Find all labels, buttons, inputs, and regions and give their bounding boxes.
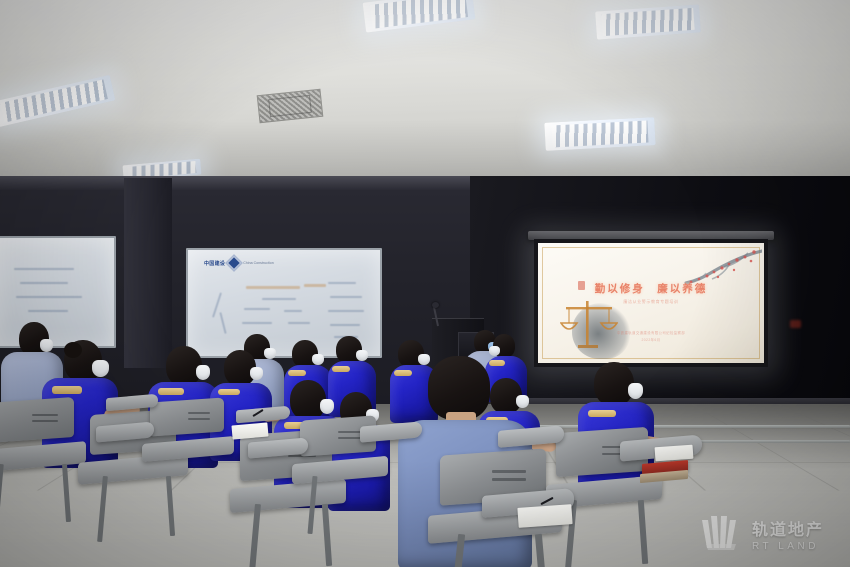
watermark-text: 轨道地产 RT LAND: [752, 516, 824, 552]
whiteboard-logo-subtext: China Construction: [243, 261, 274, 265]
wall-red-marking: [790, 320, 801, 328]
notebook-paper: [655, 445, 694, 462]
whiteboard-left: [0, 236, 116, 348]
rt-land-logo-icon: [698, 514, 744, 554]
whiteboard-company-logo: 中国建设 China Construction: [204, 257, 274, 269]
microphone-icon: [432, 302, 439, 308]
rt-land-watermark: 轨道地产 RT LAND: [698, 506, 844, 562]
whiteboard-logo-text: 中国建设: [204, 260, 225, 267]
slide-footer-line-2: 2022年6月: [538, 337, 764, 343]
slide-footer: 中铁建轨道交通建设有限公司纪检监察部 2022年6月: [538, 330, 764, 343]
watermark-english: RT LAND: [752, 541, 819, 552]
notebook-paper: [517, 504, 572, 528]
diamond-logo-icon: [226, 255, 243, 272]
projected-slide: 勤以修身 廉以养德 廉洁从业警示教育专题培训 中铁建轨道交通建设有限公司纪检监察…: [538, 243, 764, 363]
watermark-chinese: 轨道地产: [752, 516, 824, 540]
photo-canvas: 中国建设 China Construction: [0, 0, 850, 567]
projection-screen: 勤以修身 廉以养德 廉洁从业警示教育专题培训 中铁建轨道交通建设有限公司纪检监察…: [534, 239, 768, 367]
floor-rail: [690, 440, 850, 443]
wall-pillar: [124, 178, 172, 368]
scales-of-justice-graphic: [560, 293, 618, 355]
